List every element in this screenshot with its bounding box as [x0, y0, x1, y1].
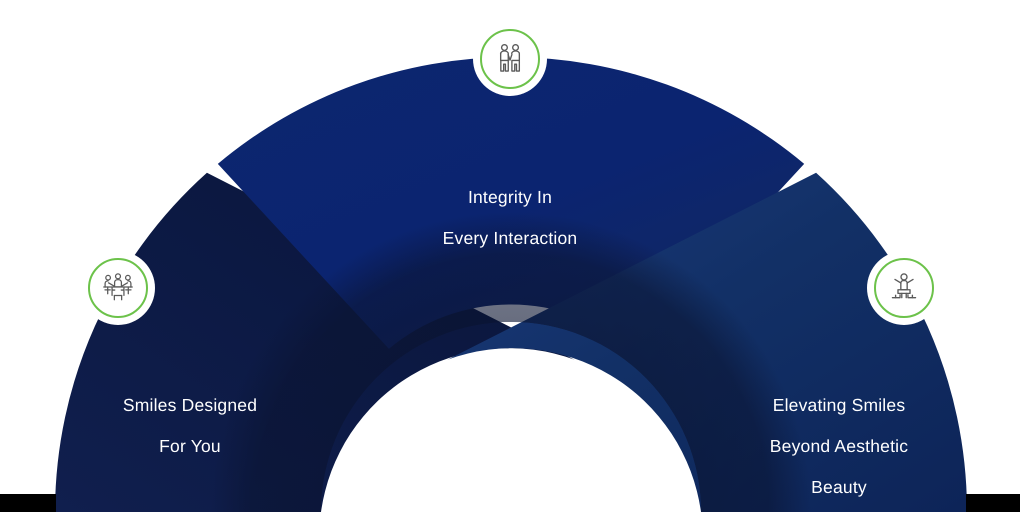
- person-podium-icon: [885, 269, 923, 307]
- badge-smiles-designed[interactable]: [81, 251, 155, 325]
- inner-shadow-ring: [55, 56, 967, 512]
- infographic-canvas: Smiles Designed For You Integrity In Eve…: [0, 0, 1020, 512]
- bottom-bar-left: [0, 494, 56, 512]
- consultation-table-icon: [99, 269, 137, 307]
- badge-elevating-smiles[interactable]: [867, 251, 941, 325]
- handshake-people-icon: [491, 40, 529, 78]
- badge-integrity[interactable]: [473, 22, 547, 96]
- bottom-bar-right: [966, 494, 1020, 512]
